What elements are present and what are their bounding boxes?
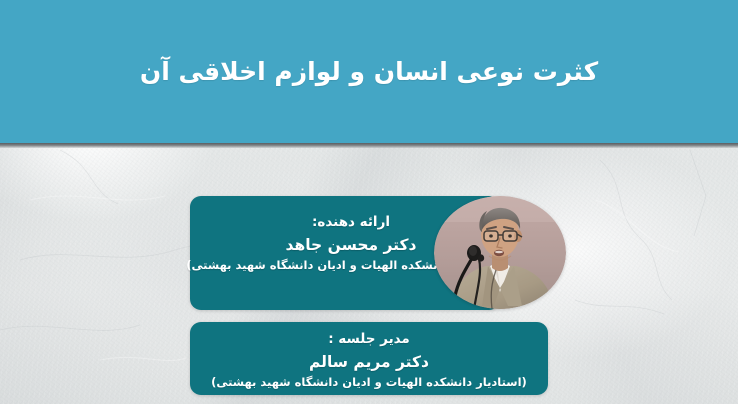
poster-header-band: کثرت نوعی انسان و لوازم اخلاقی آن — [0, 0, 738, 143]
chair-affiliation: (استادیار دانشکده الهیات و ادیان دانشگاه… — [190, 374, 548, 391]
poster-title: کثرت نوعی انسان و لوازم اخلاقی آن — [116, 55, 622, 89]
speaker-photo-avatar — [434, 196, 566, 309]
seminar-poster: کثرت نوعی انسان و لوازم اخلاقی آن — [0, 0, 738, 404]
chair-info-card: مدیر جلسه : دکتر مریم سالم (استادیار دان… — [190, 322, 548, 395]
header-shadow-divider — [0, 143, 738, 148]
chair-role-label: مدیر جلسه : — [190, 329, 548, 350]
speaker-portrait-photo-icon — [434, 196, 566, 309]
chair-name: دکتر مریم سالم — [190, 350, 548, 374]
